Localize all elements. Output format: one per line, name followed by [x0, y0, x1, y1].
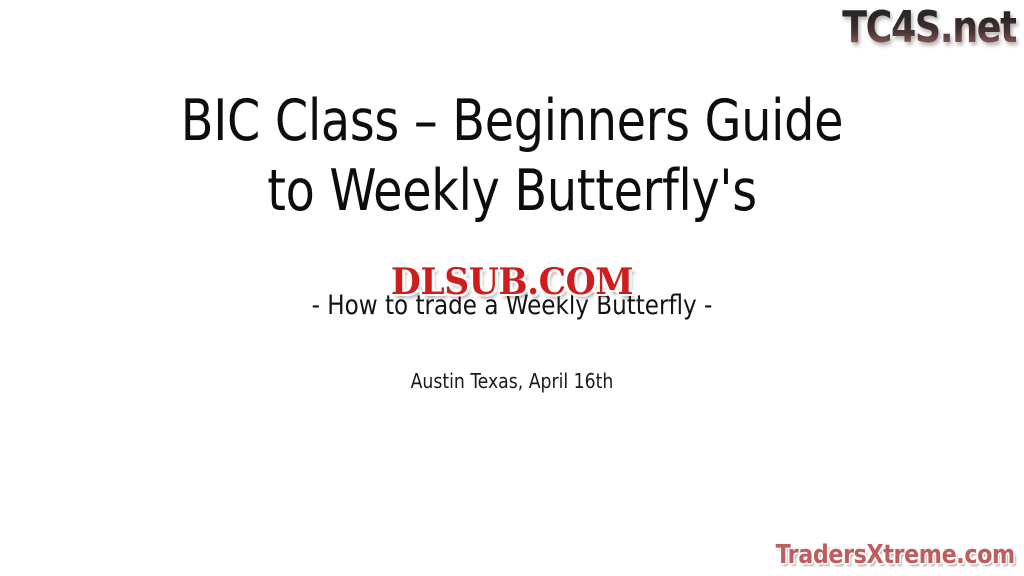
slide-date: Austin Texas, April 16th	[0, 369, 1024, 394]
watermark-tradersxtreme-com: TradersXtreme.com	[776, 540, 1015, 570]
watermark-tc4s-net: TC4S.net	[842, 3, 1016, 53]
slide-title-line-2: to Weekly Butterfly's	[36, 156, 988, 226]
watermark-dlsub-com: DLSUB.COM	[391, 262, 633, 302]
slide-title-line-1: BIC Class – Beginners Guide	[36, 86, 988, 156]
slide-title: BIC Class – Beginners Guide to Weekly Bu…	[0, 86, 1024, 226]
slide-date-text: Austin Texas, April 16th	[20, 369, 1003, 394]
presentation-slide: TC4S.net BIC Class – Beginners Guide to …	[0, 0, 1024, 576]
